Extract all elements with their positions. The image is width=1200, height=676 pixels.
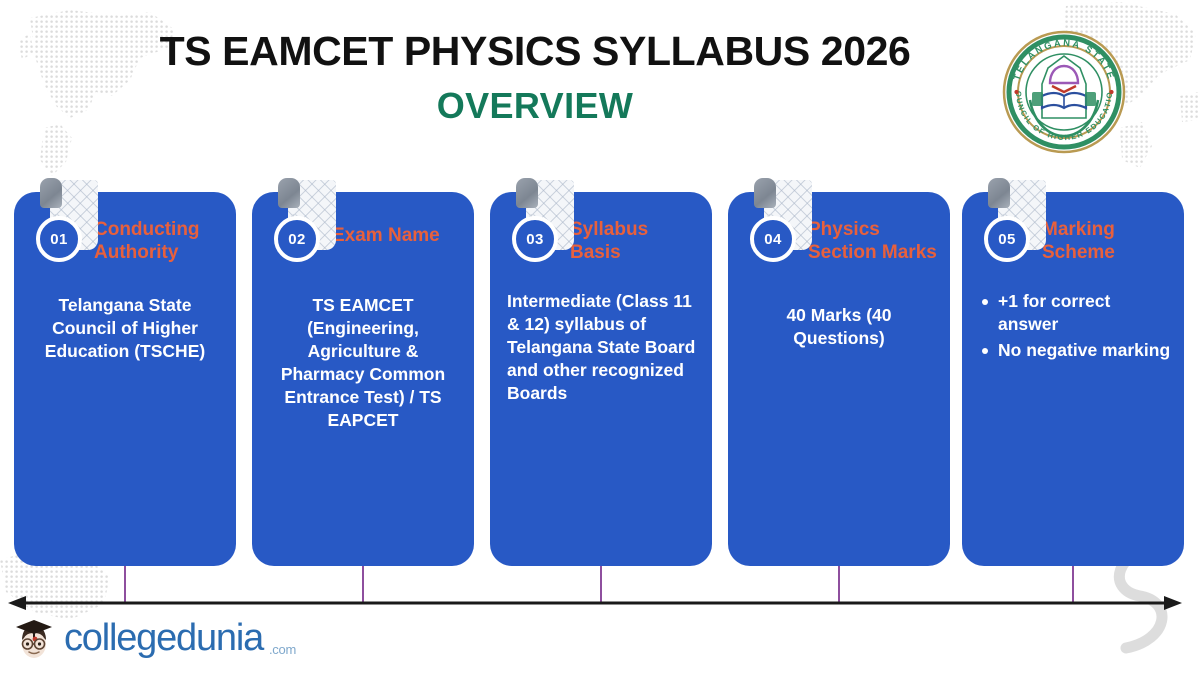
marking-scheme-list: +1 for correct answer No negative markin… — [979, 290, 1171, 362]
card-04[interactable]: 04 Physics Section Marks 40 Marks (40 Qu… — [728, 178, 950, 568]
list-item: No negative marking — [979, 339, 1171, 362]
card-number-badge: 04 — [750, 216, 796, 262]
card-01[interactable]: 01 Conducting Authority Telangana State … — [14, 178, 236, 568]
double-headed-arrow-icon — [6, 595, 1184, 611]
list-item: +1 for correct answer — [979, 290, 1171, 336]
card-content: Intermediate (Class 11 & 12) syllabus of… — [503, 290, 699, 405]
card-heading: Physics Section Marks — [808, 218, 940, 264]
card-heading: Exam Name — [332, 224, 464, 247]
card-content: +1 for correct answer No negative markin… — [975, 290, 1171, 365]
card-03[interactable]: 03 Syllabus Basis Intermediate (Class 11… — [490, 178, 712, 568]
card-number-badge: 03 — [512, 216, 558, 262]
card-content: Telangana State Council of Higher Educat… — [27, 294, 223, 363]
card-number-badge: 02 — [274, 216, 320, 262]
page-subtitle: OVERVIEW — [0, 85, 1070, 127]
card-content: 40 Marks (40 Questions) — [741, 304, 937, 350]
card-02[interactable]: 02 Exam Name TS EAMCET (Engineering, Agr… — [252, 178, 474, 568]
card-heading: Conducting Authority — [94, 218, 226, 264]
cards-row: 01 Conducting Authority Telangana State … — [0, 178, 1200, 568]
card-number-badge: 01 — [36, 216, 82, 262]
tsche-emblem-icon: TELANGANA STATE COUNCIL OF HIGHER EDUCAT… — [1000, 28, 1128, 156]
header: TS EAMCET PHYSICS SYLLABUS 2026 OVERVIEW — [0, 0, 1200, 168]
title-block: TS EAMCET PHYSICS SYLLABUS 2026 OVERVIEW — [0, 30, 1070, 127]
collegedunia-logo[interactable]: collegedunia .com — [10, 612, 296, 664]
brand-name: collegedunia — [64, 619, 263, 657]
card-05[interactable]: 05 Marking Scheme +1 for correct answer … — [962, 178, 1184, 568]
card-content: TS EAMCET (Engineering, Agriculture & Ph… — [265, 294, 461, 433]
card-number-badge: 05 — [984, 216, 1030, 262]
brand-tld: .com — [269, 642, 296, 664]
card-heading: Marking Scheme — [1042, 218, 1174, 264]
card-heading: Syllabus Basis — [570, 218, 702, 264]
collegedunia-mascot-icon — [10, 614, 58, 662]
page-title: TS EAMCET PHYSICS SYLLABUS 2026 — [0, 30, 1070, 73]
